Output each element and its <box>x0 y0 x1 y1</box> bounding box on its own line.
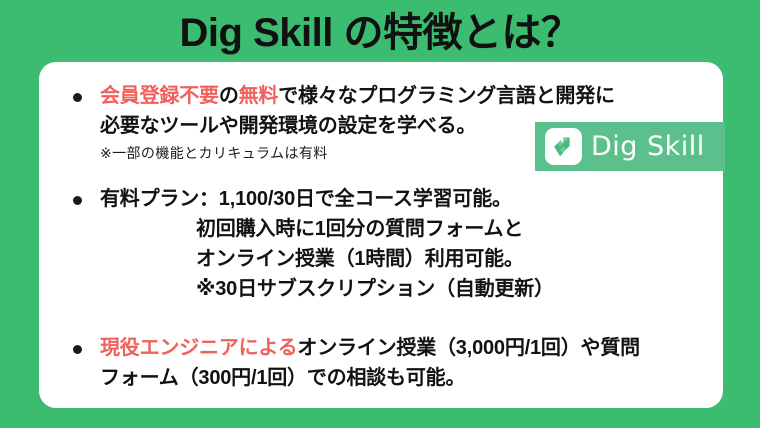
body-text: 必要なツールや開発環境の設定を学べる。 <box>100 115 476 137</box>
body-text: 初回購入時に1回分の質問フォームと <box>196 218 523 240</box>
body-text: ※30日サブスクリプション（自動更新） <box>196 278 554 300</box>
text-line: フォーム（300円/1回）での相談も可能。 <box>100 363 723 393</box>
bullet-dot-icon <box>73 345 82 354</box>
text-line: 現役エンジニアによるオンライン授業（3,000円/1回）や質問 <box>100 333 723 363</box>
bullet-dot-icon <box>73 93 82 102</box>
text-line: 有料プラン：1,100/30日で全コース学習可能。 <box>100 184 723 214</box>
dig-skill-mark-icon <box>545 128 582 165</box>
list-item-text: 現役エンジニアによるオンライン授業（3,000円/1回）や質問 フォーム（300… <box>100 333 723 393</box>
slide-root: Dig Skill の特徴とは？ 会員登録不要の無料で様々なプログラミング言語と… <box>0 0 760 428</box>
list-item-text: 有料プラン：1,100/30日で全コース学習可能。 初回購入時に1回分の質問フォ… <box>100 184 723 304</box>
bullet-list: 会員登録不要の無料で様々なプログラミング言語と開発に 必要なツールや開発環境の設… <box>39 62 723 408</box>
list-item: 有料プラン：1,100/30日で全コース学習可能。 初回購入時に1回分の質問フォ… <box>73 184 723 304</box>
list-item: 現役エンジニアによるオンライン授業（3,000円/1回）や質問 フォーム（300… <box>73 333 723 393</box>
body-text: で様々なプログラミング言語と開発に <box>278 85 615 107</box>
text-line: 初回購入時に1回分の質問フォームと <box>100 214 723 244</box>
highlight-text: 無料 <box>239 85 279 107</box>
body-text: 有料プラン：1,100/30日で全コース学習可能。 <box>100 188 512 210</box>
page-title: Dig Skill の特徴とは？ <box>0 7 760 59</box>
logo-brand-text: Dig Skill <box>591 133 705 160</box>
body-text: オンライン授業（1時間）利用可能。 <box>196 248 524 270</box>
content-card: 会員登録不要の無料で様々なプログラミング言語と開発に 必要なツールや開発環境の設… <box>39 62 723 408</box>
highlight-text: 会員登録不要 <box>100 85 219 107</box>
bullet-dot-icon <box>73 196 82 205</box>
body-text: オンライン授業（3,000円/1回）や質問 <box>297 337 640 359</box>
text-line: 会員登録不要の無料で様々なプログラミング言語と開発に <box>100 81 723 111</box>
body-text: フォーム（300円/1回）での相談も可能。 <box>100 367 465 389</box>
text-line: オンライン授業（1時間）利用可能。 <box>100 244 723 274</box>
highlight-text: 現役エンジニアによる <box>100 337 297 359</box>
body-text: の <box>219 85 239 107</box>
text-line: ※30日サブスクリプション（自動更新） <box>100 274 723 304</box>
dig-skill-logo: Dig Skill <box>535 122 725 171</box>
